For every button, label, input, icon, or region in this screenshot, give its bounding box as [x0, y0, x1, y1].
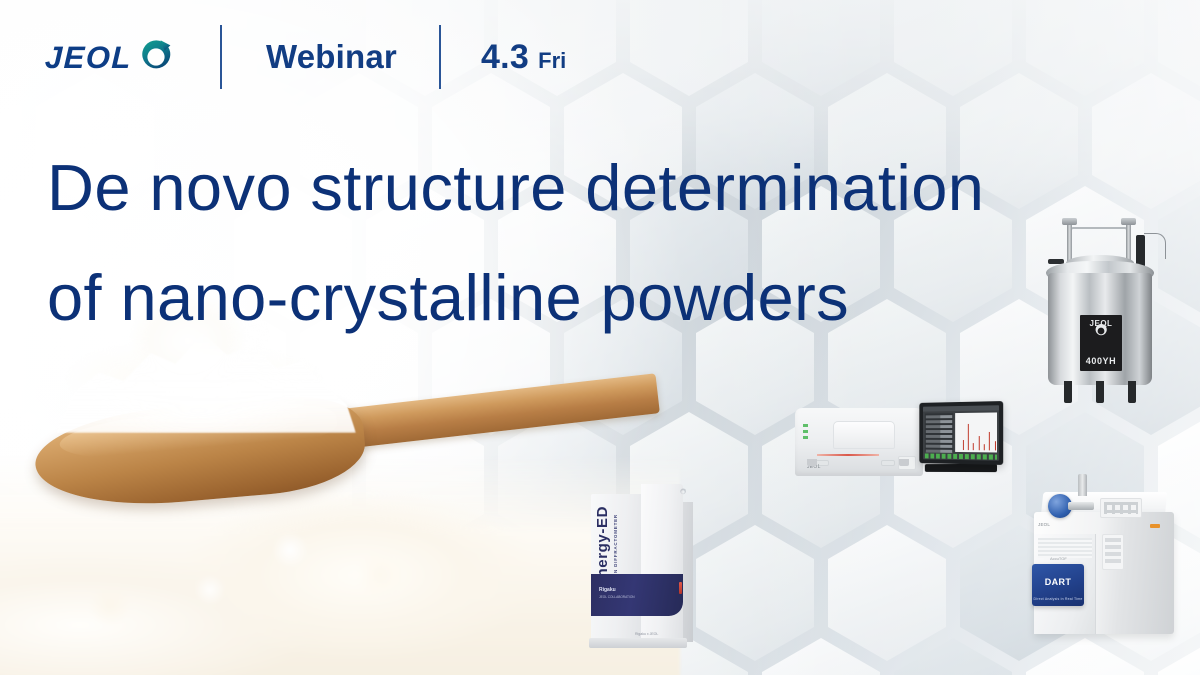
nmr-leg-1 — [1064, 381, 1072, 403]
screen-parameter-list — [925, 413, 953, 452]
instrument-synergy-ed: Synergy-ED ELECTRON DIFFRACTOMETER Rigak… — [585, 478, 695, 650]
analyser-foot-1 — [807, 459, 817, 466]
header: JEOL Webinar 4.3 Fri — [45, 24, 566, 90]
date-weekday: Fri — [538, 48, 566, 74]
webinar-banner: JEOL Webinar 4.3 Fri De novo s — [0, 0, 1200, 675]
ms-side-panel — [1102, 534, 1124, 570]
nmr-leg-2 — [1096, 381, 1104, 403]
nmr-wire — [1144, 233, 1166, 259]
date-number: 4.3 — [481, 38, 529, 77]
synergy-partner-sub: JEOL COLLABORATION — [599, 595, 635, 599]
synergy-status-led — [679, 582, 682, 594]
nmr-knob-left — [1062, 218, 1077, 225]
synergy-accent-band: Rigaku JEOL COLLABORATION — [591, 574, 683, 616]
title-line-1: De novo structure determination — [47, 133, 1187, 243]
instrument-bench-analyser: JEOL — [795, 398, 1010, 493]
ms-control-buttons — [1104, 502, 1138, 514]
accent-line — [817, 454, 879, 456]
screen-toolbar — [925, 453, 997, 459]
ms-brand-mark: JEOL — [1038, 522, 1050, 527]
analyser-body: JEOL — [795, 408, 923, 476]
instrument-mass-spectrometer: JEOL AccuTOF DART Direct Analysis in Rea… — [1022, 472, 1192, 647]
jeol-wordmark: JEOL — [44, 42, 132, 73]
ms-indicator-light — [1150, 524, 1160, 528]
analyser-foot-2 — [899, 459, 909, 466]
status-leds — [803, 424, 808, 440]
nmr-knob-right — [1121, 218, 1136, 225]
synergy-footer-mark: Rigaku x JEOL — [635, 632, 658, 636]
nmr-plate-brand: JEOL — [1080, 319, 1122, 328]
nmr-plate-model: 400YH — [1080, 356, 1122, 366]
ms-control-panel — [1100, 498, 1142, 518]
title-line-2: of nano-crystalline powders — [47, 243, 1187, 353]
analyser-monitor — [919, 401, 1003, 465]
jeol-swirl-icon-tiny — [679, 488, 687, 496]
synergy-right-panel — [641, 484, 683, 644]
instrument-nmr-magnet: JEOL 400YH — [1040, 215, 1160, 400]
ms-transfer-tube — [1068, 502, 1094, 510]
header-divider-2 — [439, 25, 441, 89]
screen-spectrum-plot — [955, 412, 997, 452]
analyser-button-2 — [881, 460, 895, 466]
webinar-date: 4.3 Fri — [481, 38, 566, 77]
dart-label: DART — [1032, 577, 1084, 587]
screen-titlebar — [923, 405, 999, 411]
ms-vent — [1038, 538, 1092, 558]
monitor-stand — [925, 464, 997, 472]
page-title: De novo structure determination of nano-… — [47, 133, 1187, 353]
monitor-screen — [923, 405, 999, 461]
header-divider-1 — [220, 25, 222, 89]
ms-model-text: AccuTOF — [1050, 556, 1067, 561]
ms-dart-module: DART Direct Analysis in Real Time — [1032, 564, 1084, 606]
dart-sublabel: Direct Analysis in Real Time — [1032, 597, 1084, 601]
nmr-leg-3 — [1128, 381, 1136, 403]
sample-hatch — [833, 421, 895, 449]
jeol-logo: JEOL — [45, 37, 176, 77]
ms-exhaust-stack — [1078, 474, 1087, 496]
synergy-partner-logo: Rigaku — [599, 587, 616, 593]
nmr-nameplate: JEOL 400YH — [1080, 315, 1122, 371]
synergy-base — [589, 638, 687, 648]
jeol-swirl-icon — [136, 37, 176, 77]
webinar-label: Webinar — [266, 38, 397, 76]
